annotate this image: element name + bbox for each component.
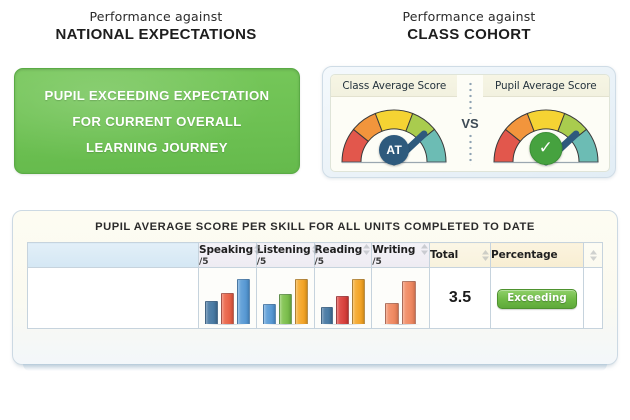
cohort-comparison-panel: Class Average Score AT [322, 66, 616, 178]
class-average-label: Class Average Score [331, 75, 457, 97]
header-extra-sort[interactable] [584, 243, 603, 268]
national-expectation-banner: PUPIL EXCEEDING EXPECTATION FOR CURRENT … [14, 68, 300, 174]
class-cohort-title: Performance against CLASS COHORT [322, 10, 616, 43]
cell-percentage: Exceeding [491, 268, 584, 329]
bar [205, 301, 218, 324]
header-listening[interactable]: Listening /5 [256, 243, 314, 268]
header-speaking-label: Speaking [199, 244, 253, 256]
sort-icon[interactable] [589, 249, 598, 262]
national-title-main: NATIONAL EXPECTATIONS [14, 27, 298, 44]
vs-label: VS [461, 114, 478, 133]
class-average-marker-badge: AT [379, 135, 409, 165]
header-listening-label: Listening [257, 244, 311, 256]
bar [237, 279, 250, 324]
pupil-average-gauge: Pupil Average Score ✓ [483, 75, 609, 171]
bar [263, 304, 276, 324]
bar [385, 303, 399, 324]
skills-table: Speaking /5 Listening [27, 242, 603, 329]
table-header-row: Speaking /5 Listening [28, 243, 603, 268]
class-average-gauge: Class Average Score AT [331, 75, 457, 171]
cohort-comparison-card: Class Average Score AT [330, 74, 610, 172]
header-reading-label: Reading [315, 244, 363, 256]
speaking-bar-chart [199, 268, 256, 328]
header-speaking[interactable]: Speaking /5 [199, 243, 257, 268]
header-speaking-sub: /5 [199, 257, 256, 267]
header-writing-label: Writing [372, 244, 415, 256]
skills-panel-heading: PUPIL AVERAGE SCORE PER SKILL FOR ALL UN… [27, 221, 603, 233]
banner-line-2: FOR CURRENT OVERALL [72, 114, 241, 129]
banner-line-1: PUPIL EXCEEDING EXPECTATION [45, 88, 270, 103]
sort-icon[interactable] [362, 243, 371, 256]
cell-speaking-chart [199, 268, 257, 329]
sort-icon[interactable] [481, 249, 490, 262]
bar [352, 279, 365, 324]
skills-summary-panel: PUPIL AVERAGE SCORE PER SKILL FOR ALL UN… [12, 210, 618, 365]
header-total-label: Total [430, 249, 458, 261]
check-icon: ✓ [539, 140, 553, 157]
sort-icon[interactable] [253, 243, 262, 256]
bar [221, 293, 234, 324]
sort-icon[interactable] [311, 243, 320, 256]
class-average-marker-text: AT [386, 143, 402, 157]
vs-dots-bottom [469, 133, 472, 166]
cohort-title-main: CLASS COHORT [322, 27, 616, 44]
sort-icon[interactable] [420, 243, 429, 256]
national-title-sub: Performance against [14, 10, 298, 24]
pupil-average-marker-badge: ✓ [529, 132, 562, 165]
header-percentage[interactable]: Percentage [491, 243, 584, 268]
header-name-column [28, 243, 199, 268]
cell-reading-chart [314, 268, 372, 329]
header-reading[interactable]: Reading /5 [314, 243, 372, 268]
header-total[interactable]: Total [430, 243, 491, 268]
writing-bar-chart [372, 268, 429, 328]
cell-writing-chart [372, 268, 430, 329]
bar [295, 279, 308, 324]
vs-dots-top [469, 81, 472, 114]
listening-bar-chart [257, 268, 314, 328]
bar [321, 307, 334, 324]
reading-bar-chart [315, 268, 372, 328]
cell-total-value: 3.5 [430, 268, 491, 329]
banner-line-3: LEARNING JOURNEY [86, 140, 228, 155]
cell-extra [584, 268, 603, 329]
cell-pupil-name [28, 268, 199, 329]
cohort-title-sub: Performance against [322, 10, 616, 24]
header-reading-sub: /5 [315, 257, 372, 267]
cell-listening-chart [256, 268, 314, 329]
bar [279, 294, 292, 324]
status-badge[interactable]: Exceeding [497, 289, 577, 309]
bar [336, 296, 349, 324]
header-writing-sub: /5 [372, 257, 429, 267]
header-listening-sub: /5 [257, 257, 314, 267]
national-expectations-title: Performance against NATIONAL EXPECTATION… [14, 10, 298, 43]
header-percentage-label: Percentage [491, 249, 558, 261]
bar [402, 281, 416, 324]
table-row[interactable]: 3.5 Exceeding [28, 268, 603, 329]
header-writing[interactable]: Writing /5 [372, 243, 430, 268]
vs-divider: VS [459, 81, 481, 165]
pupil-average-label: Pupil Average Score [483, 75, 609, 97]
